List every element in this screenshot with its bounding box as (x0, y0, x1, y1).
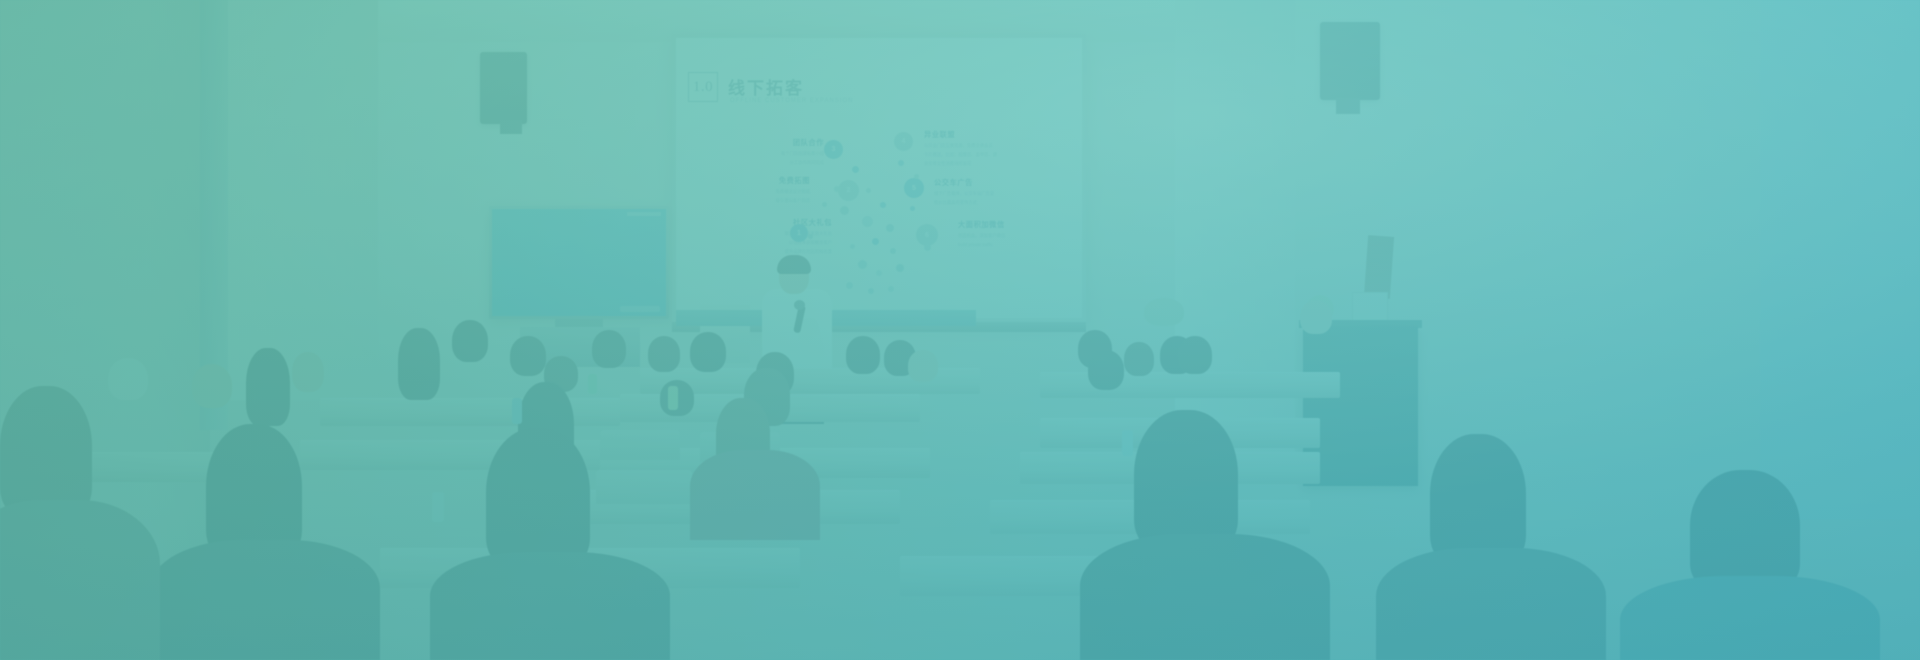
hero-banner: 1.0 线下拓客 OFFLINE CUSTOMER EXPANSION 团队合作… (0, 0, 1920, 660)
overlay-vignette (0, 0, 1920, 660)
